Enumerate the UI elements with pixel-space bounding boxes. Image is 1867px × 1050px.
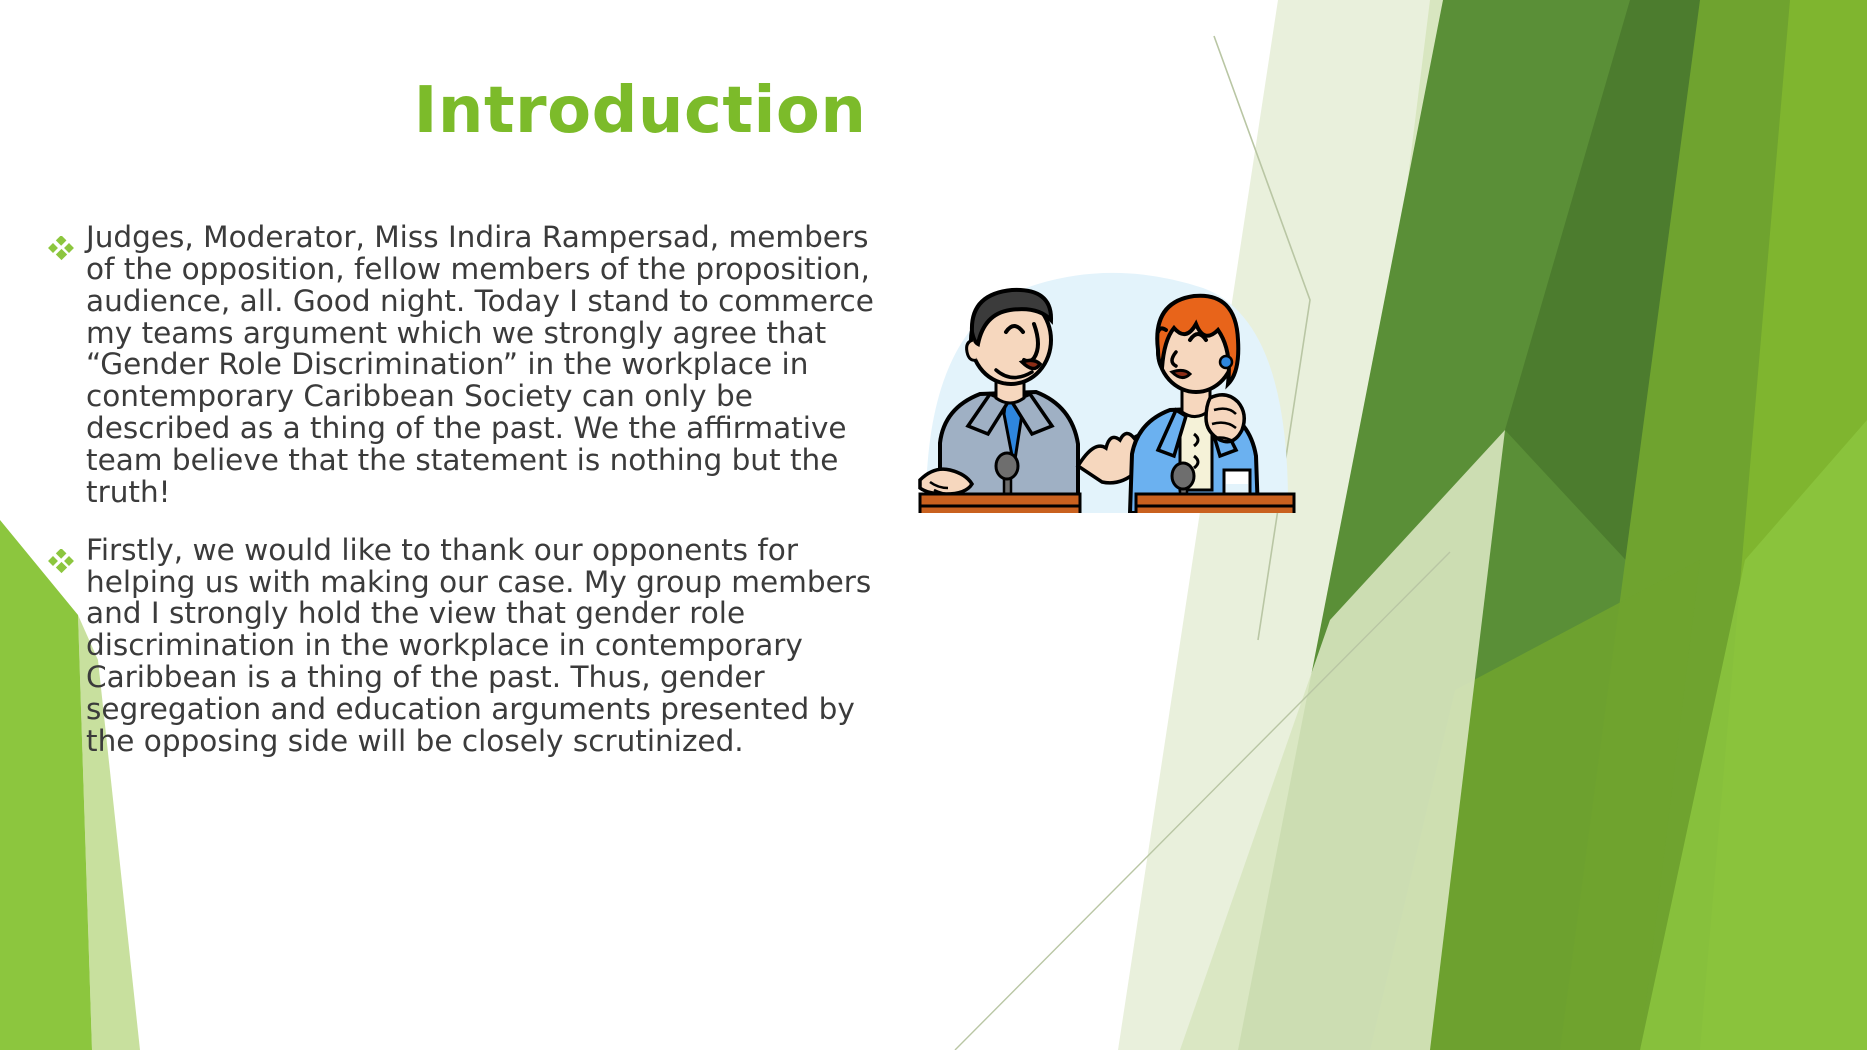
debate-speakers-clipart [918,258,1296,513]
slide-title: Introduction [200,76,1080,146]
presentation-slide: Introduction Judges, Moderator, Miss Ind… [0,0,1867,1050]
bullet-item: Firstly, we would like to thank our oppo… [40,535,900,758]
deco-lower-pale-facet [1180,430,1505,1050]
deco-darker-facet [1505,0,1790,640]
deco-lower-facet [1370,560,1700,1050]
deco-lime-overlay [1640,420,1867,1050]
deco-pale-wash [1180,0,1867,1050]
deco-bright-green-strip [1700,0,1867,1050]
deco-mid-green-strip [1560,0,1867,1050]
diamond-cluster-bullet-icon [40,535,86,575]
deco-light-band [1118,0,1500,1050]
clipart-podium-right [1136,494,1294,513]
deco-pale-facet [1300,0,1560,1050]
bullet-text: Firstly, we would like to thank our oppo… [86,535,900,758]
bullet-text: Judges, Moderator, Miss Indira Rampersad… [86,222,900,509]
bullet-item: Judges, Moderator, Miss Indira Rampersad… [40,222,900,509]
slide-body: Judges, Moderator, Miss Indira Rampersad… [40,222,900,784]
deco-hairline-diagonal [955,552,1450,1050]
clipart-podium-left [920,494,1080,513]
diamond-cluster-bullet-icon [40,222,86,262]
deco-dark-wedge [1238,0,1790,1050]
